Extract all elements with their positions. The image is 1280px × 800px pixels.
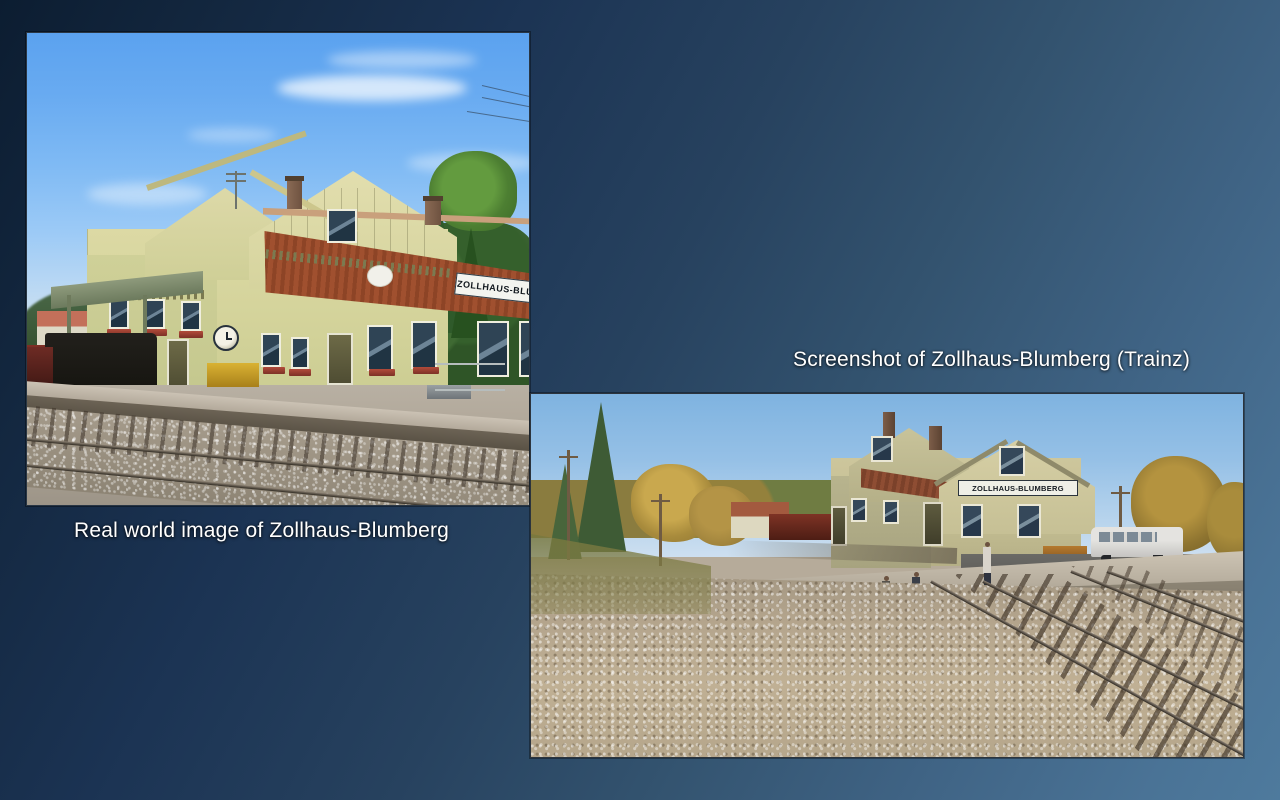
window bbox=[145, 299, 165, 329]
station-name-sign-trainz: ZOLLHAUS-BLUMBERG bbox=[958, 480, 1078, 496]
telegraph-pole bbox=[659, 494, 662, 566]
window bbox=[883, 500, 899, 524]
person-body bbox=[983, 547, 991, 573]
station-clock bbox=[213, 325, 239, 351]
window bbox=[961, 504, 983, 538]
railing bbox=[435, 363, 505, 391]
luggage-trolley bbox=[207, 363, 259, 387]
window bbox=[367, 325, 393, 371]
station-door bbox=[167, 339, 189, 389]
flower-box bbox=[289, 369, 311, 376]
cloud bbox=[327, 51, 477, 69]
station-door bbox=[327, 333, 353, 385]
window bbox=[109, 299, 129, 329]
flower-box bbox=[263, 367, 285, 374]
antenna-mast bbox=[235, 171, 237, 209]
window bbox=[181, 301, 201, 331]
window bbox=[411, 321, 437, 369]
flower-box bbox=[179, 331, 203, 338]
flower-box bbox=[369, 369, 395, 376]
chimney bbox=[883, 412, 895, 438]
gable-window bbox=[999, 446, 1025, 476]
chimney bbox=[425, 199, 441, 225]
trainz-screenshot: ZOLLHAUS-BLUMBERG bbox=[530, 393, 1244, 758]
window bbox=[851, 498, 867, 522]
white-van bbox=[1091, 527, 1183, 557]
caption-real-world: Real world image of Zollhaus-Blumberg bbox=[74, 519, 449, 543]
real-world-photo: ZOLLHAUS-BLUMBERG bbox=[26, 32, 530, 506]
station-door bbox=[923, 502, 943, 546]
railway-coach bbox=[769, 514, 835, 540]
station-door bbox=[831, 506, 847, 546]
chimney bbox=[287, 179, 302, 209]
window bbox=[1017, 504, 1041, 538]
caption-trainz: Screenshot of Zollhaus-Blumberg (Trainz) bbox=[793, 348, 1190, 372]
gable-window bbox=[871, 436, 893, 462]
satellite-dish bbox=[367, 265, 393, 287]
window bbox=[261, 333, 281, 367]
chimney bbox=[929, 426, 942, 450]
window bbox=[519, 321, 530, 377]
gable-window bbox=[327, 209, 357, 243]
comparison-slide: ZOLLHAUS-BLUMBERG bbox=[0, 0, 1280, 800]
cloud bbox=[277, 75, 467, 101]
window bbox=[291, 337, 309, 369]
cloud bbox=[187, 128, 277, 142]
